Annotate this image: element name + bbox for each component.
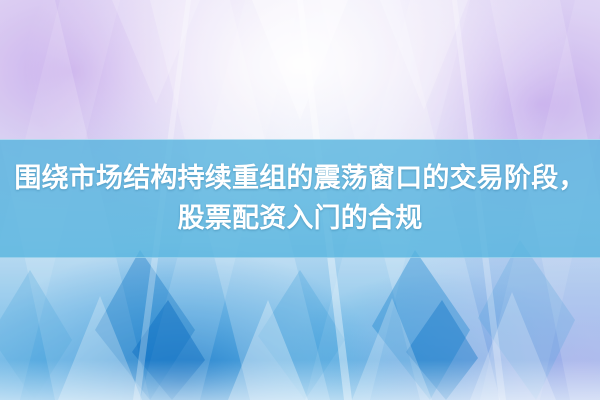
facet-diamond — [258, 270, 345, 400]
facet-wedge — [380, 0, 468, 110]
facet-wedge — [352, 298, 432, 400]
facet-diamond — [95, 250, 195, 400]
facet-diamond — [406, 300, 478, 400]
facet-diamond — [372, 250, 470, 400]
facet-wedge — [112, 0, 200, 104]
page-title: 围绕市场结构持续重组的震荡窗口的交易阶段，股票配资入门的合规 — [8, 159, 592, 239]
facet-wedge — [252, 0, 348, 120]
facet-wedge — [58, 296, 142, 400]
facet-diamond — [132, 300, 205, 400]
title-banner-band: 围绕市场结构持续重组的震荡窗口的交易阶段，股票配资入门的合规 — [0, 139, 600, 258]
facet-wedge — [228, 300, 308, 400]
facet-diamond — [478, 240, 575, 400]
facet-wedge — [470, 292, 556, 400]
background-bottom-glow — [0, 360, 600, 400]
banner-image: 围绕市场结构持续重组的震荡窗口的交易阶段，股票配资入门的合规 — [0, 0, 600, 400]
facet-diamond — [0, 270, 72, 400]
